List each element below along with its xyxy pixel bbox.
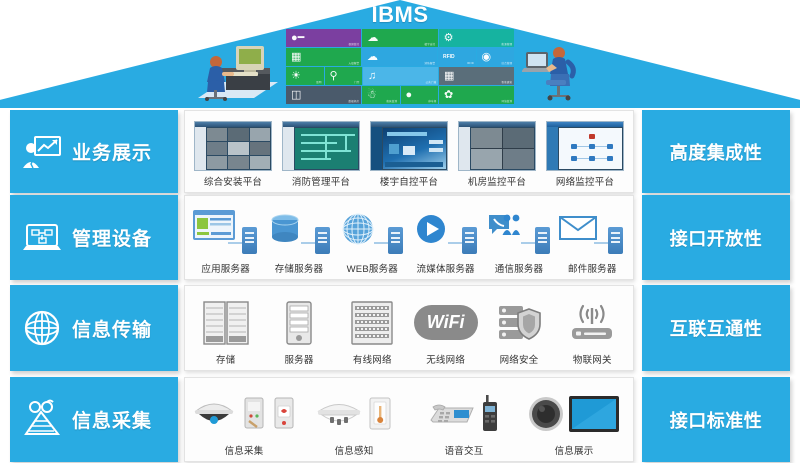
content-item-caption: 邮件服务器 <box>568 264 617 277</box>
cctv-camera-icon: ●━ <box>291 33 304 44</box>
tile-label: RFID <box>467 62 474 65</box>
content-item[interactable]: 楼宇自控平台 <box>365 115 453 190</box>
globe-icon <box>20 306 64 350</box>
tile-label: 消防报警 <box>424 61 435 65</box>
content-item[interactable]: 物联网关 <box>556 290 629 368</box>
gear-icon: ⚙ <box>444 33 454 44</box>
tile-environment-monitoring[interactable]: ✿ 环境监测 <box>439 86 514 104</box>
content-item[interactable]: 存储 <box>189 290 262 368</box>
shot-bms-thumbnail <box>365 115 453 177</box>
shot-net-thumbnail <box>541 115 629 177</box>
content-item-caption: 无线网络 <box>426 355 465 368</box>
tile-energy-monitoring[interactable]: ☃ 能耗监测 <box>362 86 400 104</box>
shield-server-art <box>482 290 555 355</box>
layer-label-text: 业务展示 <box>72 138 152 165</box>
feature-label-text: 高度集成性 <box>670 139 763 165</box>
tile-integrated-management[interactable]: ◉ 综合管理 <box>477 48 515 66</box>
content-item-caption: 楼宇自控平台 <box>380 177 438 190</box>
key-icon: ⚲ <box>330 71 338 82</box>
layer-content-business-display: 综合安装平台 <box>184 110 634 193</box>
tile-data-center[interactable]: ◫ 数据机房 <box>286 86 361 104</box>
stream-server-art <box>409 200 482 264</box>
content-item[interactable]: 邮件服务器 <box>556 200 629 277</box>
tile-label: 能耗监测 <box>387 99 398 103</box>
web-server-art <box>336 200 409 264</box>
content-item[interactable]: 信息采集 <box>189 382 299 459</box>
content-item-caption: 信息感知 <box>335 446 374 459</box>
grid-panel-icon: ▦ <box>291 52 301 63</box>
feature-label-high-integration[interactable]: 高度集成性 <box>642 110 790 193</box>
content-item[interactable]: 流媒体服务器 <box>409 200 482 277</box>
datacenter-photo-icon: ◫ <box>291 90 301 101</box>
content-item-caption: WEB服务器 <box>347 264 398 277</box>
tile-row: ●━ 视频监控 ☁ 楼宇自控 ⚙ 能源管理 <box>286 29 514 47</box>
smoke-detector-icon <box>315 398 363 430</box>
content-item-caption: 信息展示 <box>555 446 594 459</box>
content-item-caption: 机房监控平台 <box>468 177 526 190</box>
content-item[interactable]: 通信服务器 <box>482 200 555 277</box>
car-icon: ● <box>406 90 413 101</box>
layer-label-text: 信息传输 <box>72 315 152 342</box>
content-item-caption: 流媒体服务器 <box>417 264 475 277</box>
content-item[interactable]: 信息感知 <box>299 382 409 459</box>
content-item-caption: 消防管理平台 <box>292 177 350 190</box>
ibms-architecture-diagram: IBMS <box>0 0 800 463</box>
music-note-icon: ♫ <box>368 71 376 82</box>
tile-label: 数据机房 <box>348 99 359 103</box>
feature-label-text: 互联互通性 <box>670 315 763 341</box>
layer-content-information-transmission: 存储 服务器 <box>184 285 634 371</box>
comm-server-art <box>482 200 555 264</box>
storage-server-art <box>262 200 335 264</box>
tile-row: ☀ 照明 ⚲ 门禁 ♫ 公共广播 ▦ 智能建筑 <box>286 67 514 85</box>
content-item[interactable]: 存储服务器 <box>262 200 335 277</box>
layer-content-management-equipment: 应用服务器 <box>184 195 634 280</box>
database-icon <box>270 214 300 244</box>
content-item-caption: 综合安装平台 <box>204 177 262 190</box>
desk-phone-icon <box>427 398 477 430</box>
tile-label: 综合管理 <box>501 61 512 65</box>
tile-intrusion-alarm[interactable]: ▦ 入侵报警 <box>286 48 361 66</box>
shot-cctv-thumbnail <box>189 115 277 177</box>
wifi-badge-art: WiFi <box>409 290 482 355</box>
layer-content-information-collection: 信息采集 <box>184 377 634 462</box>
walkie-talkie-icon <box>481 395 501 433</box>
tile-label: 门禁 <box>355 80 360 84</box>
tile-access-control[interactable]: ⚲ 门禁 <box>325 67 363 85</box>
content-item[interactable]: 语音交互 <box>409 382 519 459</box>
dome-camera-icon <box>191 397 237 431</box>
feature-label-text: 接口开放性 <box>670 225 763 251</box>
content-item-caption: 应用服务器 <box>201 264 250 277</box>
tile-smart-building[interactable]: ▦ 智能建筑 <box>439 67 514 85</box>
tile-public-address[interactable]: ♫ 公共广播 <box>363 67 438 85</box>
speaker-icon <box>528 396 564 432</box>
shot-room-thumbnail <box>453 115 541 177</box>
tile-label: 停车场 <box>428 99 436 103</box>
server-tower-art <box>262 290 335 355</box>
content-item-caption: 存储 <box>216 355 235 368</box>
storage-array-icon <box>203 301 249 345</box>
content-item[interactable]: 消防管理平台 <box>277 115 365 190</box>
layer-row-information-collection: 信息采集 <box>0 377 800 462</box>
layer-row-business-display: 业务展示 综合安装平台 <box>0 110 800 193</box>
mail-server-art <box>556 200 629 264</box>
layer-row-management-equipment: 管理设备 <box>0 195 800 280</box>
layer-label-text: 信息采集 <box>72 406 152 433</box>
wifi-text: WiFi <box>427 312 465 332</box>
rfid-icon: RFID <box>443 55 455 60</box>
content-item-caption: 语音交互 <box>445 446 484 459</box>
layer-label-management-equipment[interactable]: 管理设备 <box>10 195 178 280</box>
tile-label: 公共广播 <box>425 80 436 84</box>
tile-label: 智能建筑 <box>501 80 512 84</box>
play-circle-icon <box>416 214 446 244</box>
feature-label-standard-interface[interactable]: 接口标准性 <box>642 377 790 462</box>
cloud-icon: ☁ <box>367 33 378 44</box>
operator-at-desktop-figure <box>192 42 284 102</box>
content-item-caption: 通信服务器 <box>495 264 544 277</box>
bulb-icon: ☀ <box>291 71 301 82</box>
layer-label-information-transmission[interactable]: 信息传输 <box>10 285 178 371</box>
content-item[interactable]: 网络监控平台 <box>541 115 629 190</box>
tile-parking[interactable]: ● 停车场 <box>401 86 439 104</box>
feature-label-open-interface[interactable]: 接口开放性 <box>642 195 790 280</box>
tile-building-automation[interactable]: ☁ 楼宇自控 <box>362 29 437 47</box>
layer-label-text: 管理设备 <box>72 224 152 251</box>
laptop-network-icon <box>20 216 64 260</box>
content-item[interactable]: 信息展示 <box>519 382 629 459</box>
thermometer-icon: ☃ <box>367 90 377 101</box>
content-item-caption: 服务器 <box>284 355 313 368</box>
content-item[interactable]: WiFi 无线网络 <box>409 290 482 368</box>
globe-wire-icon <box>341 212 375 246</box>
information-display-devices-art <box>519 382 629 446</box>
information-collection-devices-art <box>189 382 299 446</box>
tile-label: 视频监控 <box>349 42 360 46</box>
tile-row: ◫ 数据机房 ☃ 能耗监测 ● 停车场 ✿ 环境监测 <box>286 86 514 104</box>
content-item-caption: 网络监控平台 <box>556 177 614 190</box>
content-item[interactable]: 应用服务器 <box>189 200 262 277</box>
app-window-icon <box>193 210 235 240</box>
app-server-art <box>189 200 262 264</box>
layer-label-business-display[interactable]: 业务展示 <box>10 110 178 193</box>
content-item[interactable]: 服务器 <box>262 290 335 368</box>
content-item-caption: 物联网关 <box>573 355 612 368</box>
tile-label: 楼宇自控 <box>425 42 436 46</box>
content-item[interactable]: 网络安全 <box>482 290 555 368</box>
shot-fire-thumbnail <box>277 115 365 177</box>
roof-tile-mosaic: ●━ 视频监控 ☁ 楼宇自控 ⚙ 能源管理 ▦ 入侵报警 ☁ <box>286 29 514 104</box>
tile-label: 能源管理 <box>501 42 512 46</box>
fire-drop-icon: ☁ <box>367 52 378 63</box>
tile-label: 入侵报警 <box>348 61 359 65</box>
layer-row-information-transmission: 信息传输 <box>0 285 800 371</box>
presenter-chart-icon <box>20 130 64 174</box>
shield-server-icon <box>497 303 541 343</box>
panic-button-icon <box>271 396 297 432</box>
tile-energy-management[interactable]: ⚙ 能源管理 <box>439 29 514 47</box>
tile-label: 照明 <box>316 80 321 84</box>
page-title: IBMS <box>0 3 800 27</box>
router-antenna-art <box>556 290 629 355</box>
leaf-icon: ✿ <box>444 90 453 101</box>
card-reader-icon <box>241 396 267 432</box>
feature-label-interconnectivity[interactable]: 互联互通性 <box>642 285 790 371</box>
badge-icon: ◉ <box>482 52 492 63</box>
tile-label: 环境监测 <box>501 99 512 103</box>
content-item-caption: 存储服务器 <box>275 264 324 277</box>
people-chat-icon <box>488 213 522 241</box>
content-item[interactable]: 有线网络 <box>336 290 409 368</box>
feature-label-text: 接口标准性 <box>670 407 763 433</box>
content-item[interactable]: 机房监控平台 <box>453 115 541 190</box>
operator-at-laptop-figure <box>522 40 582 102</box>
wifi-badge-icon: WiFi <box>414 305 478 340</box>
roof-section: IBMS <box>0 0 800 108</box>
tile-row: ▦ 入侵报警 ☁ 消防报警 RFID RFID ◉ 综合管理 <box>286 48 514 66</box>
tile-lighting[interactable]: ☀ 照明 <box>286 67 324 85</box>
router-antenna-icon <box>569 302 615 344</box>
content-item-caption: 信息采集 <box>225 446 264 459</box>
content-item-caption: 网络安全 <box>500 355 539 368</box>
voice-interaction-devices-art <box>409 382 519 446</box>
tile-rfid[interactable]: RFID RFID <box>438 48 476 66</box>
storage-array-art <box>189 290 262 355</box>
tile-video-surveillance[interactable]: ●━ 视频监控 <box>286 29 361 47</box>
architecture-layers: 业务展示 综合安装平台 <box>0 108 800 463</box>
sensor-array-icon <box>20 398 64 442</box>
information-sensing-devices-art <box>299 382 409 446</box>
tile-fire-alarm[interactable]: ☁ 消防报警 <box>362 48 437 66</box>
layer-label-information-collection[interactable]: 信息采集 <box>10 377 178 462</box>
content-item[interactable]: 综合安装平台 <box>189 115 277 190</box>
display-screen-icon <box>568 395 620 433</box>
switch-rack-art <box>336 290 409 355</box>
building-photo-icon: ▦ <box>444 71 454 82</box>
content-item[interactable]: WEB服务器 <box>336 200 409 277</box>
thermostat-icon <box>367 396 393 432</box>
content-item-caption: 有线网络 <box>353 355 392 368</box>
switch-rack-icon <box>351 301 393 345</box>
envelope-icon <box>559 216 597 240</box>
server-tower-icon <box>286 301 312 345</box>
